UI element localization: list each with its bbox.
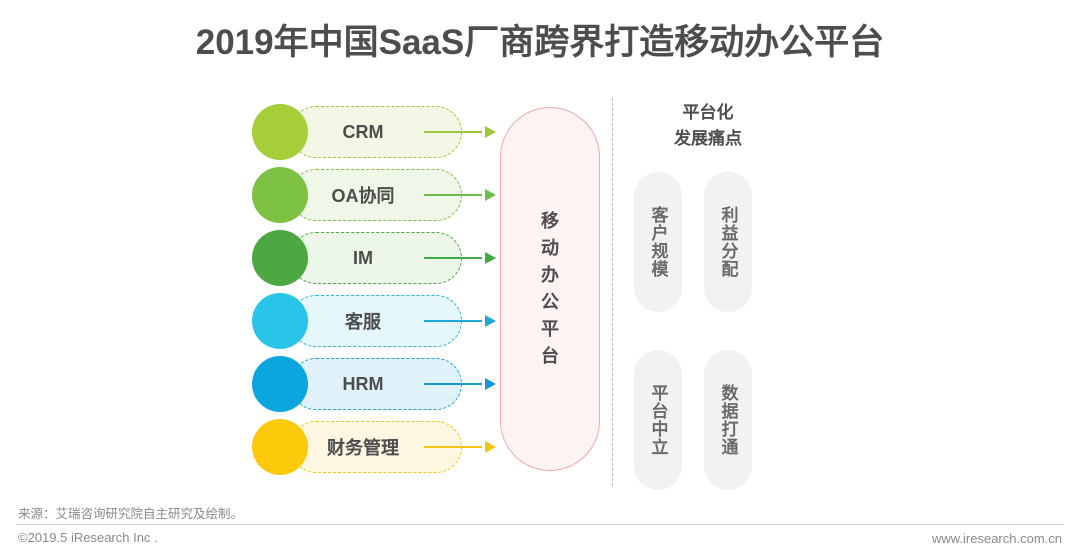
pain-point-capsule[interactable]: 平台中立: [634, 350, 682, 490]
pain-point-label: 利益分配: [720, 206, 737, 278]
mobile-office-platform-capsule[interactable]: 移动办公平台: [500, 107, 600, 471]
module-row-finance[interactable]: 财务管理: [252, 419, 512, 477]
module-dot-icon: [252, 293, 308, 349]
module-row-crm[interactable]: CRM: [252, 104, 512, 162]
pain-point-capsule[interactable]: 数据打通: [704, 350, 752, 490]
module-dot-icon: [252, 104, 308, 160]
pain-points-grid: 客户规模 利益分配 平台中立 数据打通: [634, 172, 784, 492]
flow-arrow-icon: [424, 126, 496, 138]
pain-point-label: 平台中立: [650, 384, 667, 456]
center-capsule-label: 移动办公平台: [533, 208, 567, 370]
module-label: 财务管理: [327, 434, 425, 460]
flow-arrow-icon: [424, 189, 496, 201]
module-row-oa[interactable]: OA协同: [252, 167, 512, 225]
module-row-im[interactable]: IM: [252, 230, 512, 288]
pain-point-capsule[interactable]: 利益分配: [704, 172, 752, 312]
module-label: HRM: [343, 374, 410, 395]
flow-arrow-icon: [424, 315, 496, 327]
module-dot-icon: [252, 167, 308, 223]
website-url: www.iresearch.com.cn: [932, 531, 1062, 546]
pain-point-capsule[interactable]: 客户规模: [634, 172, 682, 312]
module-label: CRM: [343, 122, 410, 143]
module-label: 客服: [345, 308, 407, 334]
section-divider: [612, 98, 613, 486]
pain-point-label: 客户规模: [650, 206, 667, 278]
module-label: IM: [353, 248, 399, 269]
module-row-hrm[interactable]: HRM: [252, 356, 512, 414]
pain-points-heading: 平台化 发展痛点: [628, 100, 788, 153]
copyright-text: ©2019.5 iResearch Inc .: [18, 530, 158, 545]
module-dot-icon: [252, 356, 308, 412]
pain-point-label: 数据打通: [720, 384, 737, 456]
module-dot-icon: [252, 230, 308, 286]
pain-points-heading-line2: 发展痛点: [628, 126, 788, 152]
flow-arrow-icon: [424, 252, 496, 264]
flow-arrow-icon: [424, 441, 496, 453]
source-note: 来源：艾瑞咨询研究院自主研究及绘制。: [18, 503, 243, 522]
flow-arrow-icon: [424, 378, 496, 390]
footer-divider: [16, 524, 1064, 525]
module-row-customer-service[interactable]: 客服: [252, 293, 512, 351]
pain-points-heading-line1: 平台化: [628, 100, 788, 126]
diagram-canvas: CRM OA协同 IM 客服 HRM: [0, 0, 1080, 497]
module-label: OA协同: [332, 182, 421, 208]
module-dot-icon: [252, 419, 308, 475]
